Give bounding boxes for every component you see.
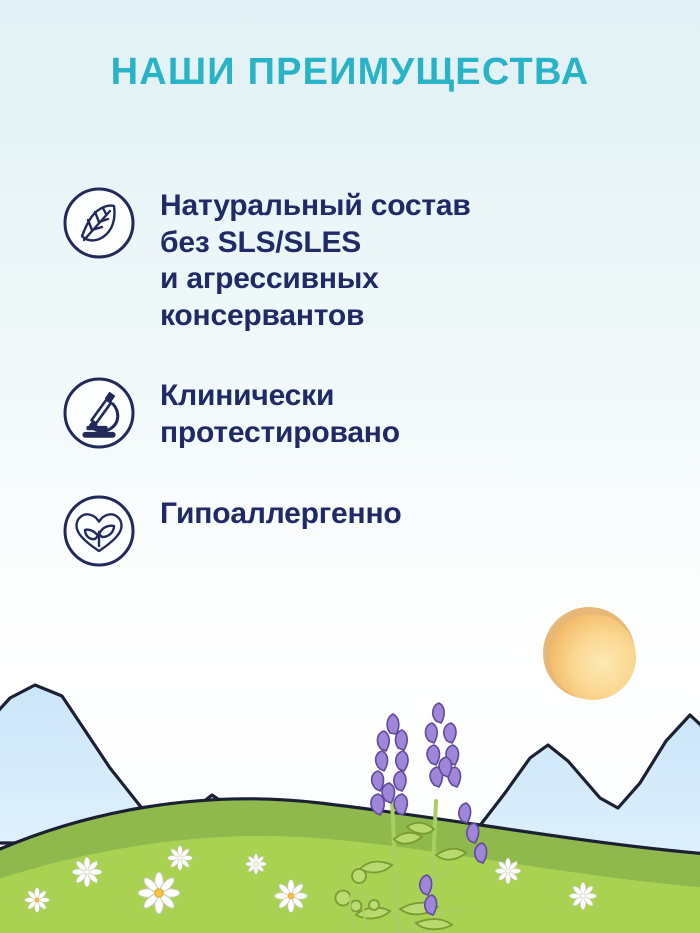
benefit-line: без SLS/SLES bbox=[160, 225, 471, 262]
benefit-line: протестировано bbox=[160, 415, 400, 452]
benefit-line: Клинически bbox=[160, 378, 400, 415]
microscope-in-circle-icon bbox=[62, 376, 136, 450]
scenery-illustration bbox=[0, 593, 700, 933]
benefit-line: Натуральный состав bbox=[160, 188, 471, 225]
benefit-text-clinically-tested: Клинически протестировано bbox=[160, 372, 400, 451]
sun-icon bbox=[543, 607, 636, 700]
benefit-line: Гипоаллергенно bbox=[160, 496, 402, 533]
page-title: НАШИ ПРЕИМУЩЕСТВА bbox=[0, 52, 700, 94]
benefit-item-clinically-tested: Клинически протестировано bbox=[62, 372, 662, 451]
benefit-line: консервантов bbox=[160, 298, 471, 335]
benefit-line: и агрессивных bbox=[160, 261, 471, 298]
heart-with-sprout-in-circle-icon bbox=[62, 494, 136, 568]
promo-poster: НАШИ ПРЕИМУЩЕСТВА bbox=[0, 0, 700, 933]
benefit-text-natural-composition: Натуральный состав без SLS/SLES и агресс… bbox=[160, 182, 471, 334]
benefit-item-hypoallergenic: Гипоаллергенно bbox=[62, 490, 662, 568]
benefit-item-natural-composition: Натуральный состав без SLS/SLES и агресс… bbox=[62, 182, 662, 334]
benefits-list: Натуральный состав без SLS/SLES и агресс… bbox=[62, 182, 662, 568]
benefit-text-hypoallergenic: Гипоаллергенно bbox=[160, 490, 402, 533]
leaf-in-circle-icon bbox=[62, 186, 136, 260]
